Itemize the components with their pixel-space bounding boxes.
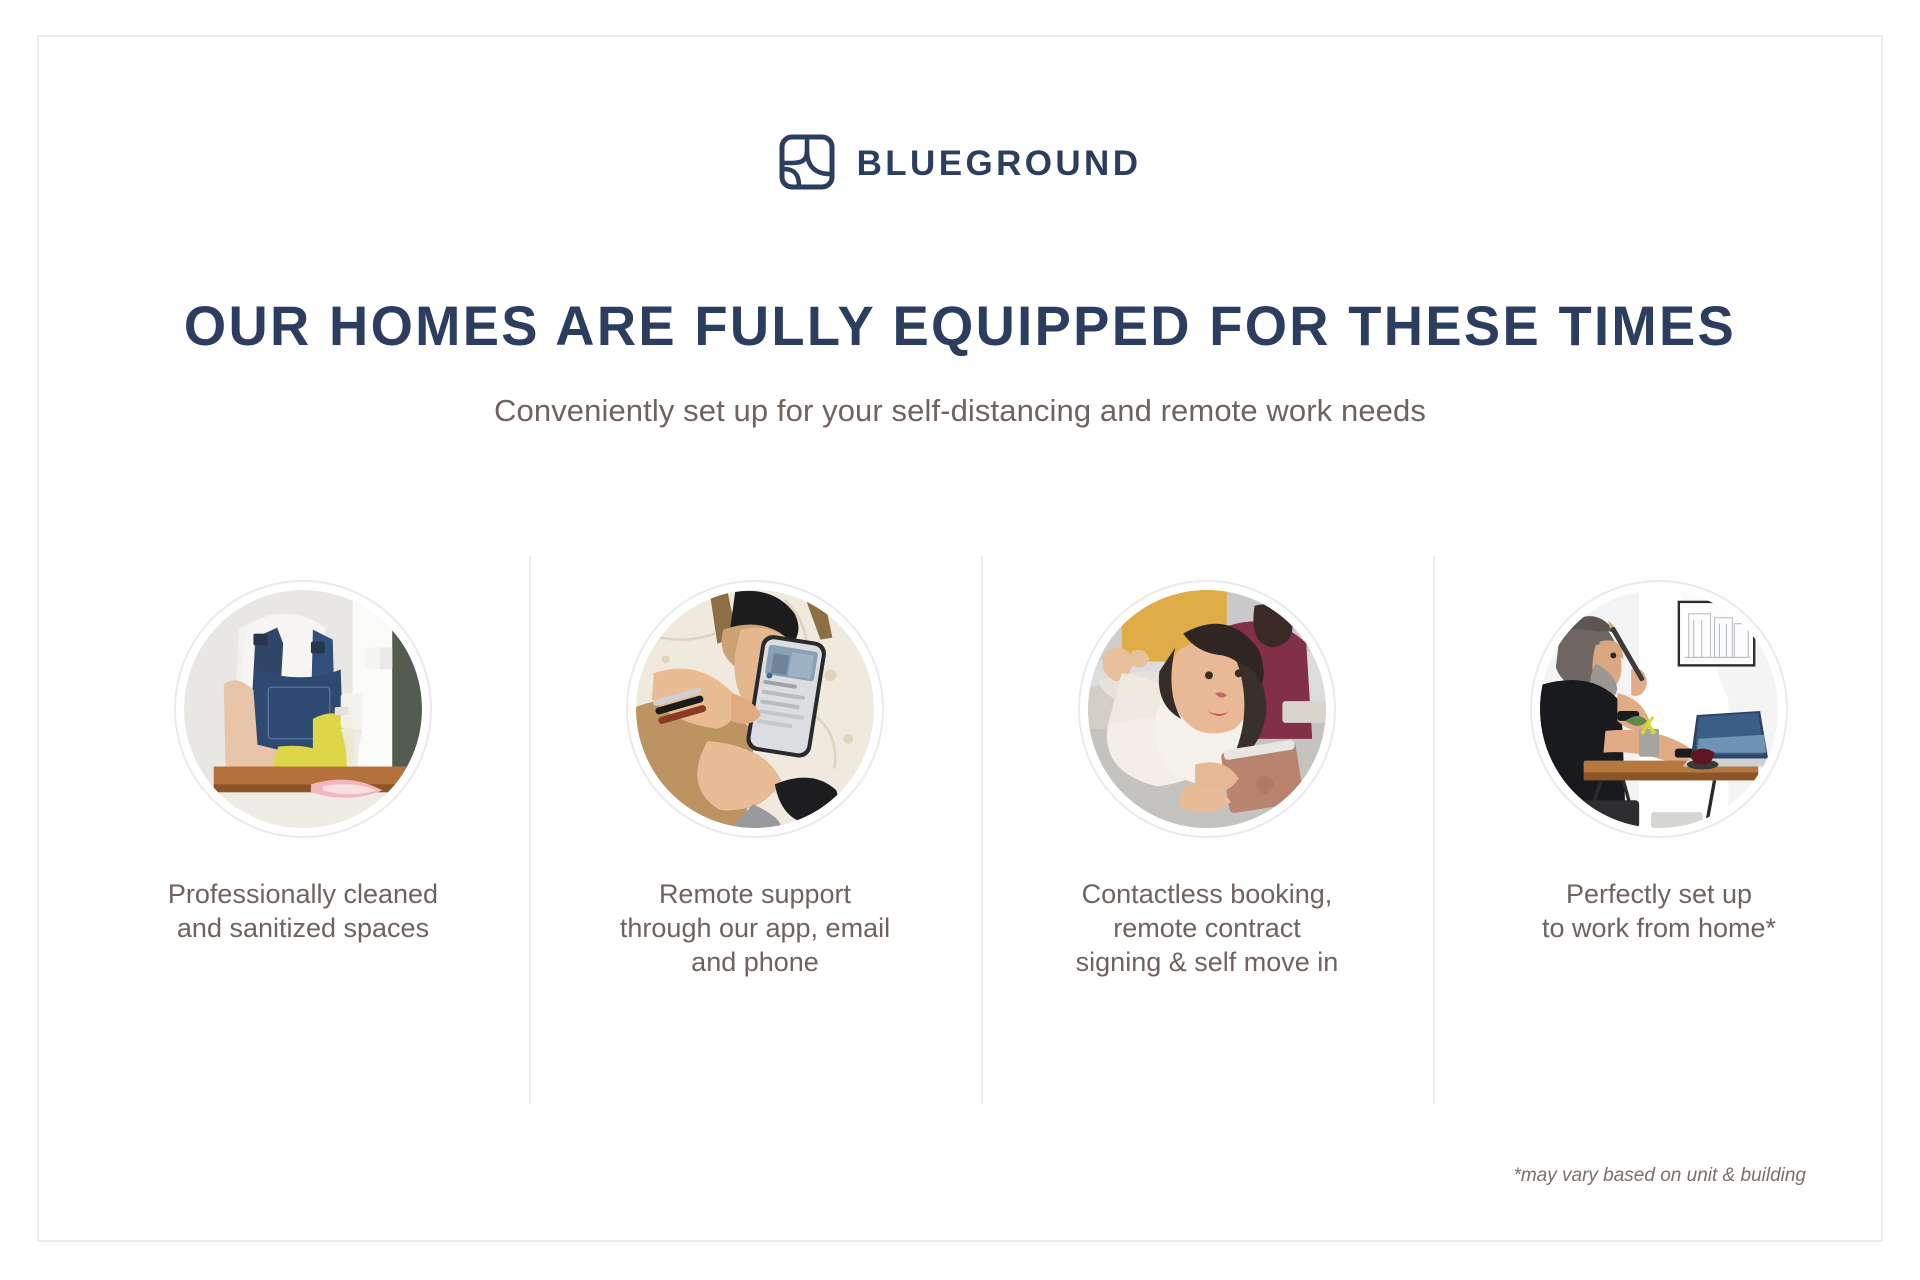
photo-ring	[1530, 580, 1788, 838]
poster-page: BLUEGROUND OUR HOMES ARE FULLY EQUIPPED …	[0, 0, 1920, 1280]
photo-ring	[1078, 580, 1336, 838]
feature-caption: Contactless booking, remote contract sig…	[1076, 877, 1339, 979]
feature-column-remote-support: Remote support through our app, email an…	[529, 556, 981, 1104]
feature-caption: Perfectly set up to work from home*	[1542, 877, 1776, 945]
footnote: *may vary based on unit & building	[1513, 1165, 1806, 1187]
feature-caption: Professionally cleaned and sanitized spa…	[168, 877, 438, 945]
feature-caption: Remote support through our app, email an…	[620, 877, 890, 979]
smartphone-app-photo	[636, 590, 874, 828]
blueground-square-logo-icon	[779, 134, 835, 190]
photo-ring	[626, 580, 884, 838]
feature-column-cleaning: Professionally cleaned and sanitized spa…	[77, 556, 529, 1104]
page-subtitle: Conveniently set up for your self-distan…	[39, 393, 1881, 429]
feature-column-contactless-booking: Contactless booking, remote contract sig…	[981, 556, 1433, 1104]
photo-ring	[174, 580, 432, 838]
feature-column-work-from-home: Perfectly set up to work from home*	[1433, 556, 1885, 1104]
work-from-home-photo	[1540, 590, 1778, 828]
brand-lockup: BLUEGROUND	[39, 134, 1881, 190]
brand-name: BLUEGROUND	[857, 144, 1142, 181]
poster-frame: BLUEGROUND OUR HOMES ARE FULLY EQUIPPED …	[37, 35, 1883, 1242]
cleaning-person-photo	[184, 590, 422, 828]
page-title: OUR HOMES ARE FULLY EQUIPPED FOR THESE T…	[67, 293, 1854, 358]
tablet-booking-photo	[1088, 590, 1326, 828]
feature-columns: Professionally cleaned and sanitized spa…	[77, 556, 1885, 1104]
